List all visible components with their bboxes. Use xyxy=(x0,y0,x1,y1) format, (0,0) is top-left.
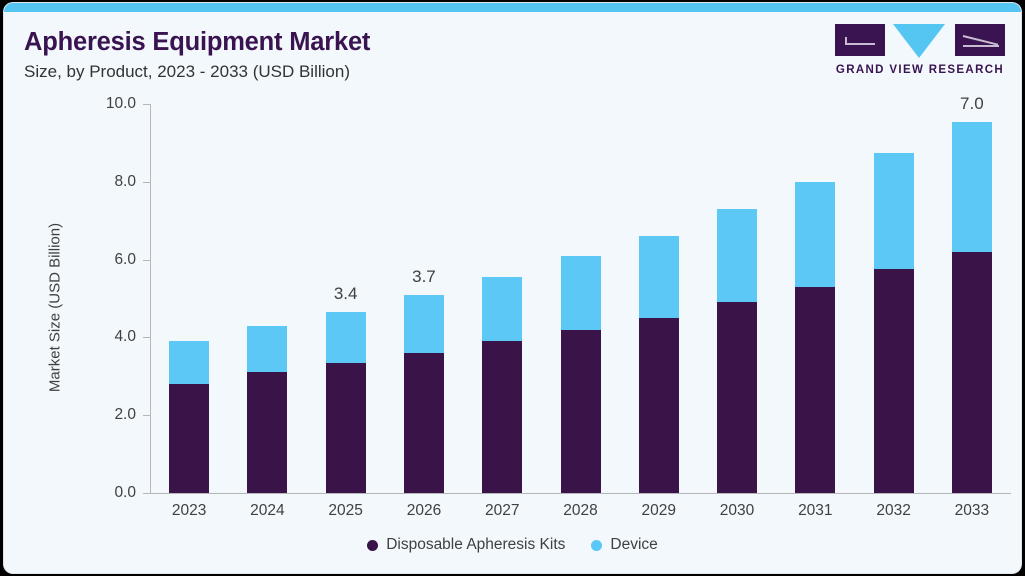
bar-segment-device[interactable] xyxy=(247,326,287,373)
x-tick-label: 2033 xyxy=(912,502,1021,520)
bar-segment-kits[interactable] xyxy=(169,384,209,493)
bar-segment-device[interactable] xyxy=(795,182,835,287)
bar-segment-kits[interactable] xyxy=(874,269,914,493)
bar-segment-kits[interactable] xyxy=(795,287,835,493)
bar-segment-kits[interactable] xyxy=(717,302,757,493)
y-tick-mark xyxy=(143,493,151,494)
y-tick-label: 8.0 xyxy=(76,173,136,191)
y-tick-label: 10.0 xyxy=(76,95,136,113)
bar-group[interactable] xyxy=(482,492,522,493)
bar-segment-device[interactable] xyxy=(561,256,601,330)
bar-segment-device[interactable] xyxy=(952,122,992,252)
bar-segment-device[interactable] xyxy=(874,153,914,270)
y-tick-label: 4.0 xyxy=(76,328,136,346)
bar-value-label: 3.4 xyxy=(286,284,406,304)
bar-segment-kits[interactable] xyxy=(561,330,601,493)
bar-segment-kits[interactable] xyxy=(639,318,679,493)
bar-segment-kits[interactable] xyxy=(247,372,287,493)
x-axis-line xyxy=(150,493,1011,494)
y-tick-mark xyxy=(143,104,151,105)
bar-group[interactable] xyxy=(404,492,444,493)
bar-segment-device[interactable] xyxy=(169,341,209,384)
bar-group[interactable] xyxy=(717,492,757,493)
legend-item[interactable]: Disposable Apheresis Kits xyxy=(367,536,565,554)
bar-segment-kits[interactable] xyxy=(482,341,522,493)
bar-segment-device[interactable] xyxy=(717,209,757,302)
y-tick-mark xyxy=(143,260,151,261)
y-tick-mark xyxy=(143,182,151,183)
legend-item[interactable]: Device xyxy=(591,536,657,554)
y-tick-mark xyxy=(143,415,151,416)
legend-swatch-icon xyxy=(591,540,602,551)
bar-group[interactable] xyxy=(639,492,679,493)
bar-segment-kits[interactable] xyxy=(326,363,366,493)
y-tick-label: 0.0 xyxy=(76,484,136,502)
y-axis-title: Market Size (USD Billion) xyxy=(47,198,64,418)
bar-group[interactable] xyxy=(952,492,992,493)
bar-group[interactable] xyxy=(874,492,914,493)
bar-group[interactable] xyxy=(247,492,287,493)
bar-group[interactable] xyxy=(326,492,366,493)
y-tick-mark xyxy=(143,337,151,338)
y-tick-label: 6.0 xyxy=(76,251,136,269)
y-tick-label: 2.0 xyxy=(76,406,136,424)
legend-label: Disposable Apheresis Kits xyxy=(386,536,565,554)
bar-value-label: 7.0 xyxy=(912,94,1021,114)
bar-segment-device[interactable] xyxy=(404,295,444,353)
bar-segment-kits[interactable] xyxy=(404,353,444,493)
y-axis-line xyxy=(150,104,151,494)
bar-segment-device[interactable] xyxy=(326,312,366,363)
screenshot-frame: Apheresis Equipment Market Size, by Prod… xyxy=(0,0,1025,576)
bar-group[interactable] xyxy=(561,492,601,493)
chart-card: Apheresis Equipment Market Size, by Prod… xyxy=(4,3,1021,573)
bar-segment-device[interactable] xyxy=(639,236,679,318)
legend-swatch-icon xyxy=(367,540,378,551)
bar-value-label: 3.7 xyxy=(364,267,484,287)
chart-legend: Disposable Apheresis KitsDevice xyxy=(4,536,1021,554)
bar-group[interactable] xyxy=(169,492,209,493)
bar-group[interactable] xyxy=(795,492,835,493)
legend-label: Device xyxy=(610,536,657,554)
bar-segment-device[interactable] xyxy=(482,277,522,341)
plot-area: Market Size (USD Billion) 0.02.04.06.08.… xyxy=(4,3,1021,573)
bar-segment-kits[interactable] xyxy=(952,252,992,493)
